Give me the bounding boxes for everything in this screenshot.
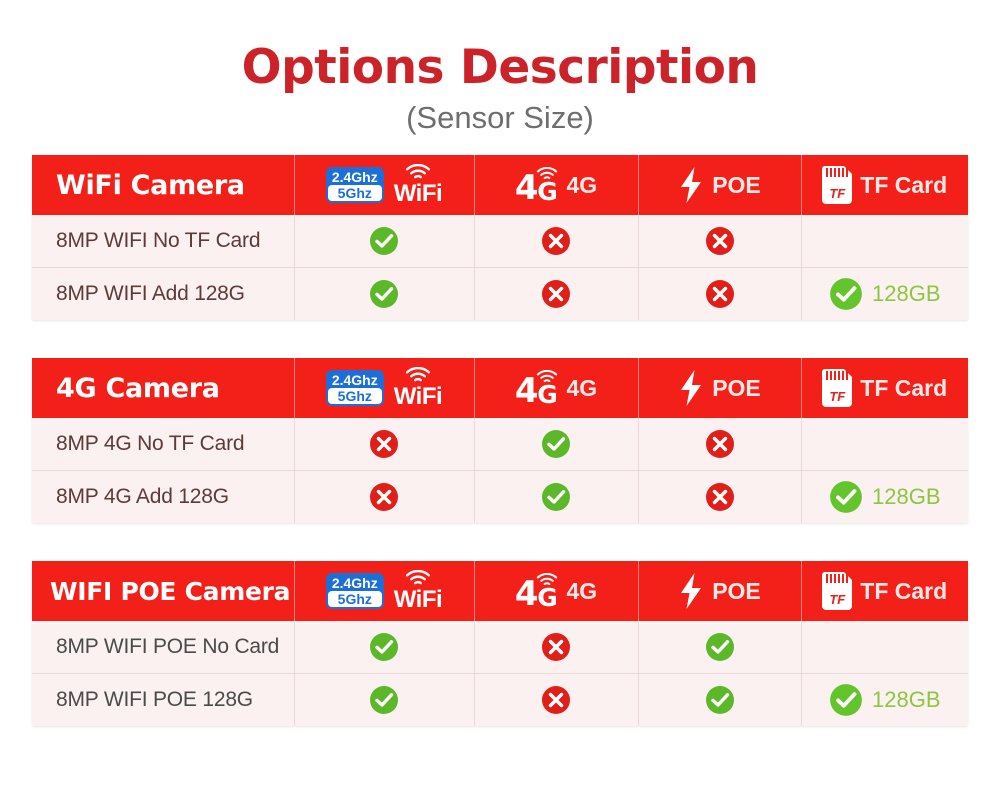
- red-cross-icon: [705, 482, 735, 512]
- header-cell-poe: POE: [639, 166, 801, 204]
- column-header-wifi: 2.4Ghz5GhzWiFi: [294, 155, 474, 215]
- wifi-band-24: 2.4Ghz: [328, 575, 382, 591]
- 4g-letter: G: [537, 384, 558, 406]
- tf-card-contacts: [826, 574, 848, 583]
- column-header-tf: TFTF Card: [801, 561, 968, 621]
- wifi-icon-word: WiFi: [394, 385, 442, 409]
- cell-wifi: [294, 471, 474, 524]
- cell-tf: 128GB: [801, 268, 968, 321]
- wifi-signal-icon: WiFi: [394, 367, 442, 408]
- product-name-cell: 8MP WIFI POE 128G: [32, 674, 294, 727]
- 4g-number: 4: [515, 173, 539, 203]
- green-check-icon: [829, 683, 863, 717]
- 4g-number: 4: [515, 579, 539, 609]
- cell-wifi: [294, 215, 474, 268]
- cell-tf: [801, 621, 968, 674]
- wifi-signal-icon: WiFi: [394, 570, 442, 611]
- header-cell-poe: POE: [639, 572, 801, 610]
- red-cross-icon: [705, 429, 735, 459]
- header-cell-wifi: 2.4Ghz5GhzWiFi: [295, 367, 474, 408]
- product-name-cell: 8MP 4G Add 128G: [32, 471, 294, 524]
- green-check-icon: [705, 685, 735, 715]
- tf-card-label: TF Card: [860, 172, 947, 199]
- column-header-wifi: 2.4Ghz5GhzWiFi: [294, 358, 474, 418]
- wifi-poe-camera-table: WIFI POE Camera2.4Ghz5GhzWiFi4G4GPOETFTF…: [32, 561, 968, 726]
- cell-tf: 128GB: [801, 674, 968, 727]
- header-cell-4g: 4G4G: [475, 167, 638, 203]
- tf-card-label: TF Card: [860, 578, 947, 605]
- 4g-label: 4G: [566, 375, 597, 402]
- poe-label: POE: [712, 578, 761, 605]
- wifi-band-5: 5Ghz: [328, 591, 382, 607]
- cell-tf: 128GB: [801, 471, 968, 524]
- table-row: 8MP WIFI Add 128G 128GB: [32, 268, 968, 321]
- wifi-band-24: 2.4Ghz: [328, 169, 382, 185]
- red-cross-icon: [369, 429, 399, 459]
- green-check-icon: [705, 632, 735, 662]
- column-header-4g: 4G4G: [474, 561, 638, 621]
- cell-4g: [474, 215, 638, 268]
- page-subtitle: (Sensor Size): [0, 102, 1000, 133]
- product-name-cell: 8MP WIFI No TF Card: [32, 215, 294, 268]
- table-row: 8MP WIFI POE 128G 128GB: [32, 674, 968, 727]
- product-name-cell: 8MP WIFI POE No Card: [32, 621, 294, 674]
- table-header-row: WiFi Camera2.4Ghz5GhzWiFi4G4GPOETFTF Car…: [32, 155, 968, 215]
- 4g-camera-table: 4G Camera2.4Ghz5GhzWiFi4G4GPOETFTF Card8…: [32, 358, 968, 523]
- column-header-tf: TFTF Card: [801, 155, 968, 215]
- column-header-4g: 4G4G: [474, 155, 638, 215]
- camera-type-title: WIFI POE Camera: [32, 561, 294, 621]
- cell-wifi: [294, 674, 474, 727]
- cell-poe: [638, 471, 801, 524]
- tf-card-letters: TF: [822, 390, 852, 403]
- cell-4g: [474, 471, 638, 524]
- table-row: 8MP WIFI No TF Card: [32, 215, 968, 268]
- green-check-icon: [829, 480, 863, 514]
- camera-type-title: WiFi Camera: [32, 155, 294, 215]
- capacity-label: 128GB: [872, 689, 941, 711]
- cell-4g: [474, 418, 638, 471]
- wifi-camera-table: WiFi Camera2.4Ghz5GhzWiFi4G4GPOETFTF Car…: [32, 155, 968, 320]
- product-name-cell: 8MP 4G No TF Card: [32, 418, 294, 471]
- header-cell-tf: TFTF Card: [802, 166, 969, 204]
- red-cross-icon: [541, 685, 571, 715]
- wifi-signal-icon: WiFi: [394, 164, 442, 205]
- cell-poe: [638, 674, 801, 727]
- column-header-wifi: 2.4Ghz5GhzWiFi: [294, 561, 474, 621]
- cell-4g: [474, 621, 638, 674]
- header-cell-4g: 4G4G: [475, 573, 638, 609]
- wifi-band-24: 2.4Ghz: [328, 372, 382, 388]
- tf-card-icon: TF: [822, 369, 852, 407]
- poe-label: POE: [712, 375, 761, 402]
- capacity-label: 128GB: [872, 486, 941, 508]
- header-cell-poe: POE: [639, 369, 801, 407]
- green-check-icon: [369, 632, 399, 662]
- poe-label: POE: [712, 172, 761, 199]
- cell-wifi: [294, 621, 474, 674]
- header-cell-tf: TFTF Card: [802, 369, 969, 407]
- green-check-icon: [369, 226, 399, 256]
- green-check-icon: [541, 482, 571, 512]
- lightning-bolt-icon: [678, 166, 704, 204]
- cell-poe: [638, 268, 801, 321]
- red-cross-icon: [541, 226, 571, 256]
- cell-4g: [474, 674, 638, 727]
- lightning-bolt-icon: [678, 369, 704, 407]
- column-header-4g: 4G4G: [474, 358, 638, 418]
- column-header-tf: TFTF Card: [801, 358, 968, 418]
- wifi-band-5: 5Ghz: [328, 388, 382, 404]
- tf-card-icon: TF: [822, 572, 852, 610]
- column-header-poe: POE: [638, 155, 801, 215]
- tf-card-contacts: [826, 168, 848, 177]
- table-row: 8MP 4G Add 128G 128GB: [32, 471, 968, 524]
- page-header: Options Description (Sensor Size): [0, 0, 1000, 133]
- cell-4g: [474, 268, 638, 321]
- red-cross-icon: [541, 632, 571, 662]
- options-tables: WiFi Camera2.4Ghz5GhzWiFi4G4GPOETFTF Car…: [0, 155, 1000, 726]
- red-cross-icon: [705, 279, 735, 309]
- table-header-row: 4G Camera2.4Ghz5GhzWiFi4G4GPOETFTF Card: [32, 358, 968, 418]
- header-cell-tf: TFTF Card: [802, 572, 969, 610]
- lightning-bolt-icon: [678, 572, 704, 610]
- green-check-icon: [829, 277, 863, 311]
- wifi-band-5: 5Ghz: [328, 185, 382, 201]
- cell-tf: [801, 215, 968, 268]
- capacity-label: 128GB: [872, 283, 941, 305]
- green-check-icon: [541, 429, 571, 459]
- table-header-row: WIFI POE Camera2.4Ghz5GhzWiFi4G4GPOETFTF…: [32, 561, 968, 621]
- 4g-number: 4: [515, 376, 539, 406]
- camera-type-title: 4G Camera: [32, 358, 294, 418]
- tf-card-letters: TF: [822, 593, 852, 606]
- cell-poe: [638, 621, 801, 674]
- cell-poe: [638, 418, 801, 471]
- header-cell-wifi: 2.4Ghz5GhzWiFi: [295, 164, 474, 205]
- green-check-icon: [369, 685, 399, 715]
- tf-card-letters: TF: [822, 187, 852, 200]
- wifi-band-badge: 2.4Ghz5Ghz: [326, 167, 384, 203]
- header-cell-4g: 4G4G: [475, 370, 638, 406]
- header-cell-wifi: 2.4Ghz5GhzWiFi: [295, 570, 474, 611]
- page-title: Options Description: [0, 44, 1000, 91]
- tf-card-icon: TF: [822, 166, 852, 204]
- cell-wifi: [294, 268, 474, 321]
- red-cross-icon: [705, 226, 735, 256]
- 4g-letter: G: [537, 181, 558, 203]
- cell-wifi: [294, 418, 474, 471]
- wifi-icon-word: WiFi: [394, 588, 442, 612]
- column-header-poe: POE: [638, 561, 801, 621]
- table-row: 8MP WIFI POE No Card: [32, 621, 968, 674]
- 4g-signal-icon: 4G: [515, 370, 559, 406]
- tf-card-label: TF Card: [860, 375, 947, 402]
- 4g-label: 4G: [566, 578, 597, 605]
- product-name-cell: 8MP WIFI Add 128G: [32, 268, 294, 321]
- 4g-label: 4G: [566, 172, 597, 199]
- 4g-signal-icon: 4G: [515, 167, 559, 203]
- wifi-band-badge: 2.4Ghz5Ghz: [326, 573, 384, 609]
- green-check-icon: [369, 279, 399, 309]
- red-cross-icon: [369, 482, 399, 512]
- wifi-icon-word: WiFi: [394, 182, 442, 206]
- table-row: 8MP 4G No TF Card: [32, 418, 968, 471]
- wifi-band-badge: 2.4Ghz5Ghz: [326, 370, 384, 406]
- 4g-letter: G: [537, 587, 558, 609]
- tf-card-contacts: [826, 371, 848, 380]
- cell-tf: [801, 418, 968, 471]
- cell-poe: [638, 215, 801, 268]
- red-cross-icon: [541, 279, 571, 309]
- 4g-signal-icon: 4G: [515, 573, 559, 609]
- column-header-poe: POE: [638, 358, 801, 418]
